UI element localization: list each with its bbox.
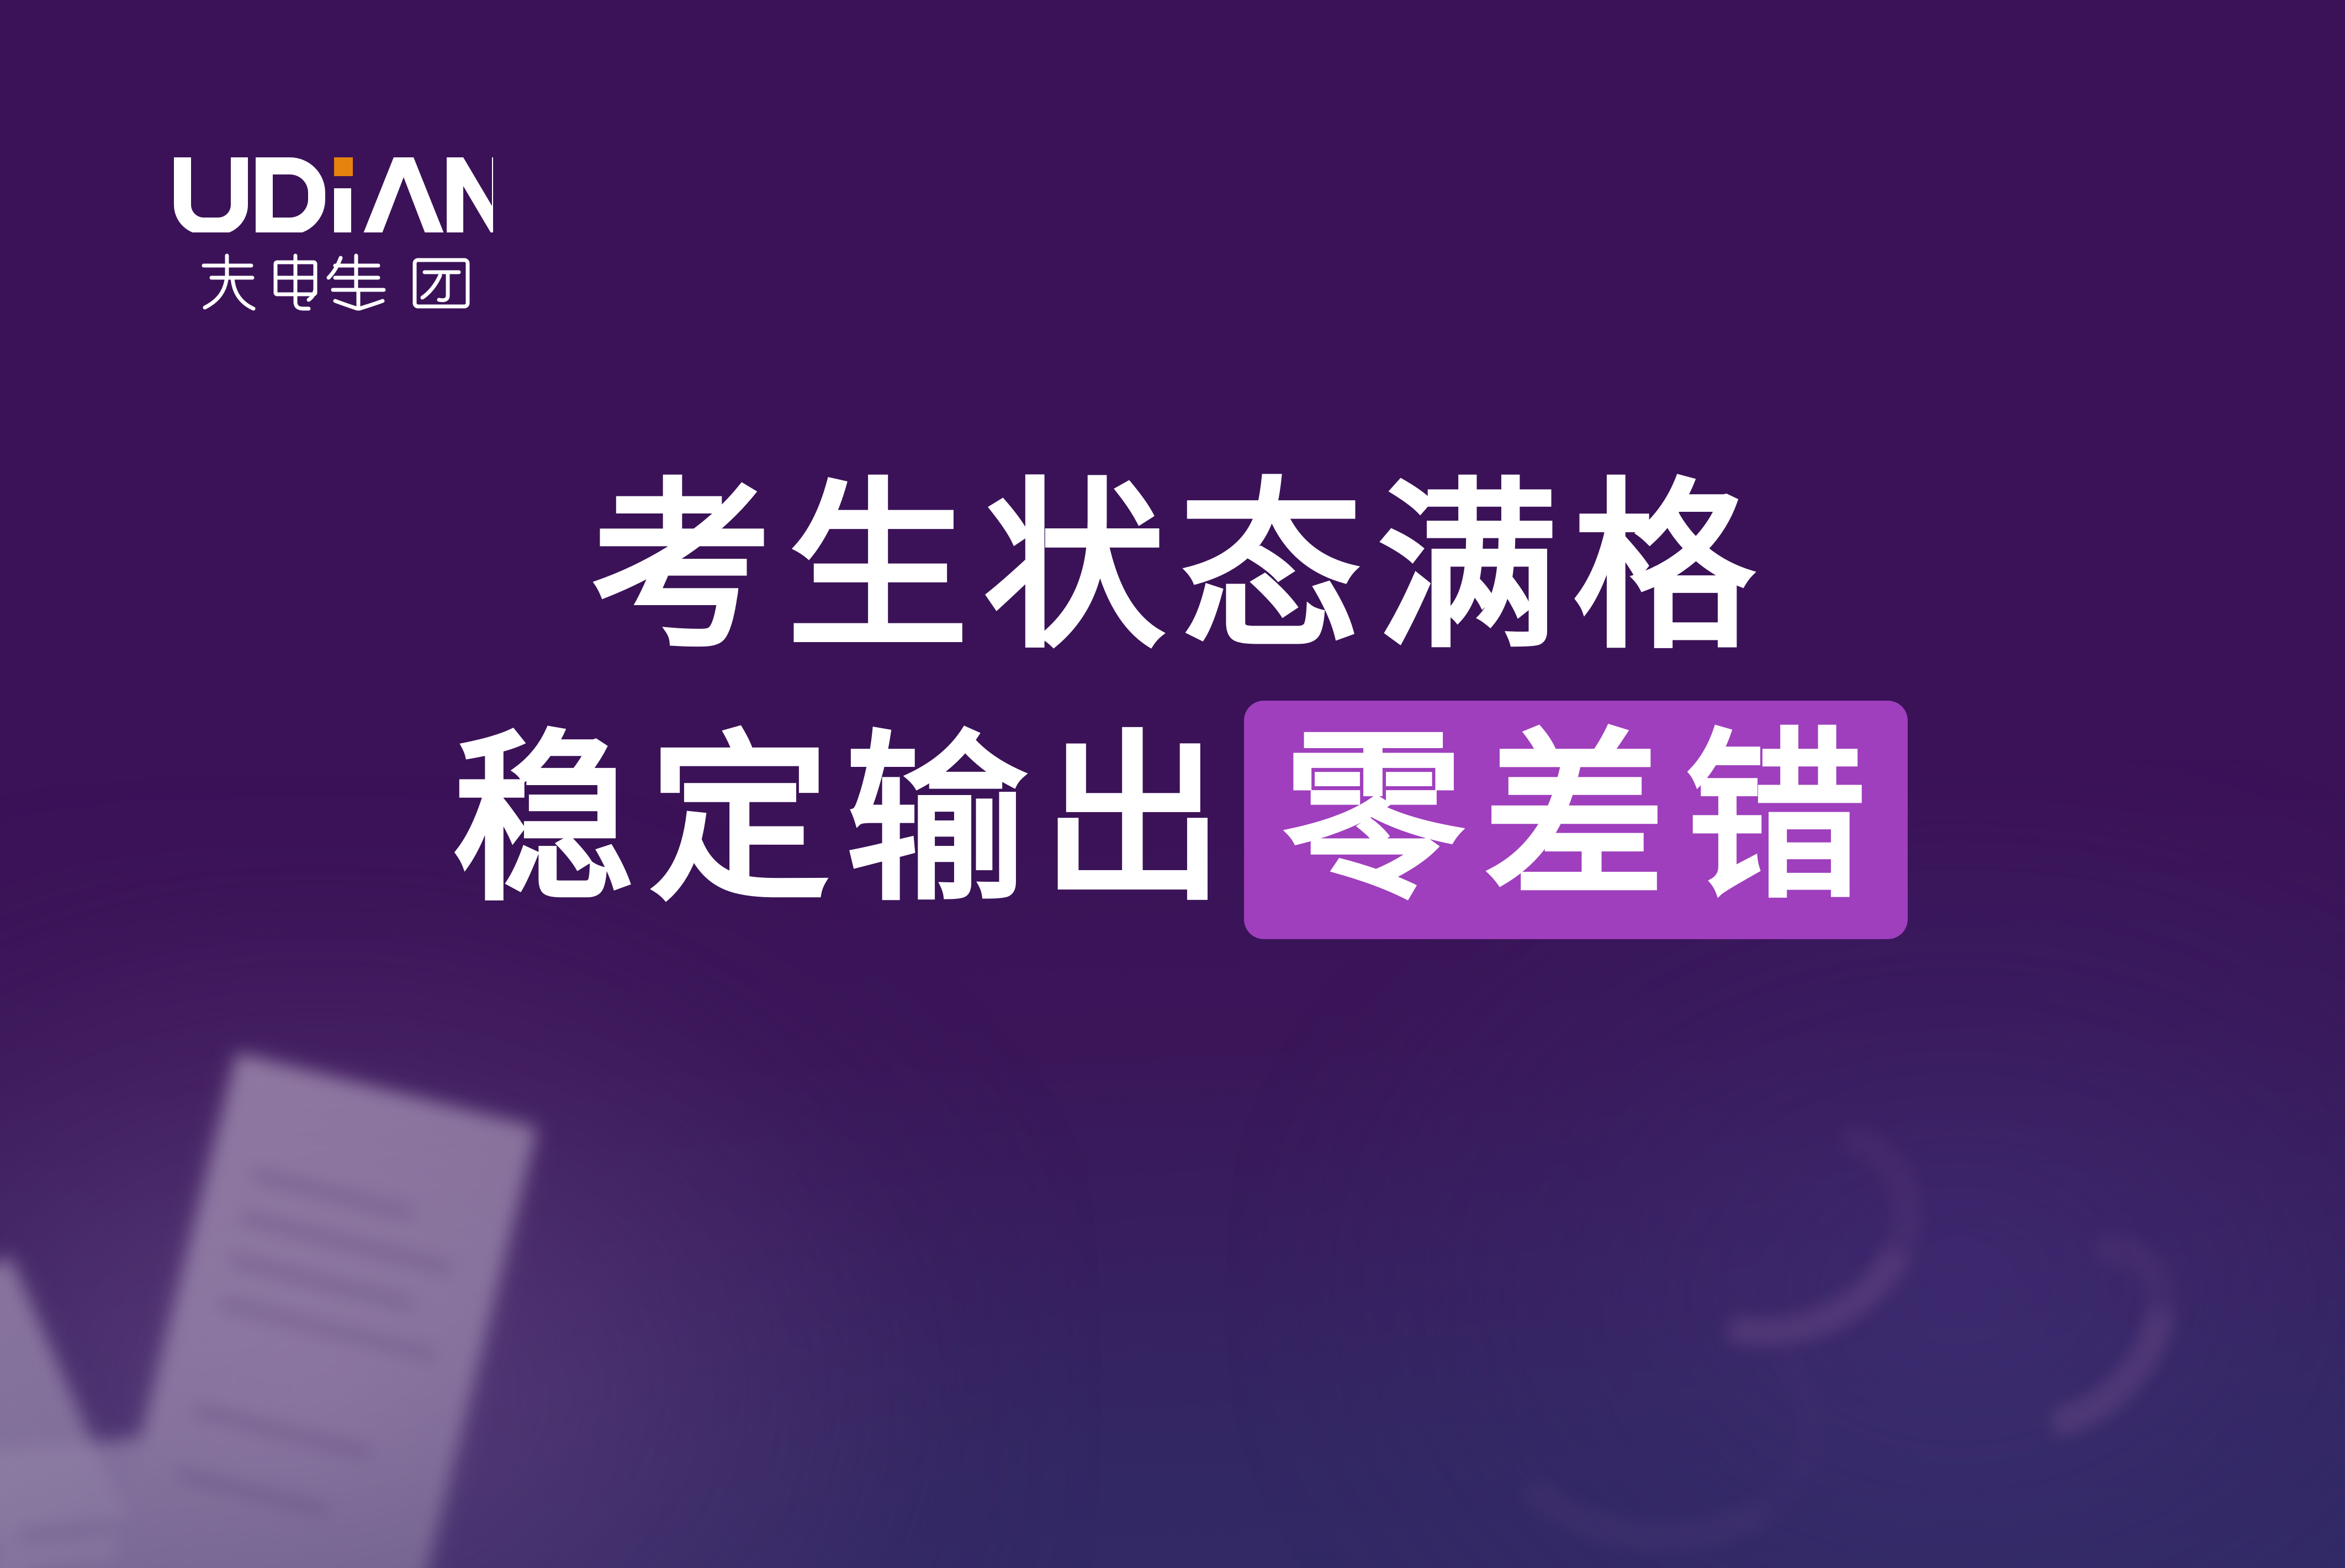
headline-block: 考生状态满格 稳定输出 零差错 (0, 475, 2345, 939)
brand-logo (173, 157, 515, 311)
headline-line-1: 考生状态满格 (0, 475, 2345, 661)
promo-banner: 考生状态满格 稳定输出 零差错 (0, 0, 2345, 1568)
logo-orange-dot (334, 157, 353, 176)
brand-chinese-name-icon (198, 251, 485, 311)
paper-decoration-group (0, 1021, 652, 1568)
headline-highlight-text: 零差错 (1278, 725, 1886, 911)
paper-decoration (103, 1053, 537, 1568)
headline-line-2-plain: 稳定输出 (438, 727, 1238, 913)
headline-line-2: 稳定输出 零差错 (0, 701, 2345, 940)
udian-wordmark-icon (173, 157, 493, 232)
headline-highlight-badge: 零差错 (1244, 701, 1908, 940)
